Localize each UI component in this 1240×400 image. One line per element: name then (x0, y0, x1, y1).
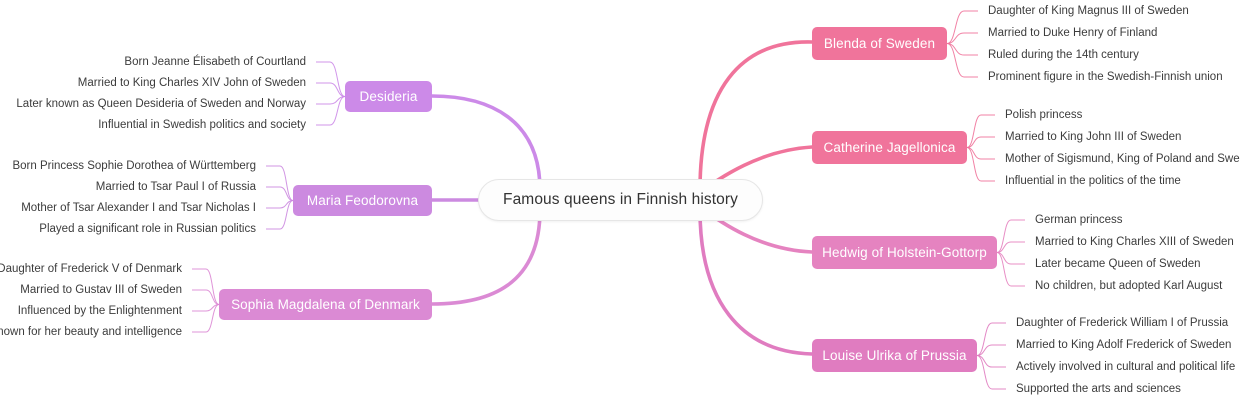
leaf-connector (192, 290, 219, 305)
leaf-connector (266, 187, 293, 201)
branch-node-louise[interactable]: Louise Ulrika of Prussia (812, 339, 977, 372)
branch-node-desideria[interactable]: Desideria (345, 81, 432, 112)
leaf-item[interactable]: Married to King Charles XIII of Sweden (1035, 235, 1234, 249)
leaf-item[interactable]: Ruled during the 14th century (988, 48, 1139, 62)
leaf-item[interactable]: Later known as Queen Desideria of Sweden… (16, 97, 306, 111)
branch-node-label: Sophia Magdalena of Denmark (231, 297, 420, 312)
leaf-item[interactable]: No children, but adopted Karl August (1035, 279, 1222, 293)
leaf-item[interactable]: Influenced by the Enlightenment (18, 304, 182, 318)
branch-connector (700, 210, 812, 354)
leaf-item[interactable]: Daughter of King Magnus III of Sweden (988, 4, 1189, 18)
leaf-connector (266, 201, 293, 230)
leaf-connector (947, 44, 978, 78)
branch-node-label: Hedwig of Holstein-Gottorp (822, 245, 987, 260)
branch-node-label: Blenda of Sweden (824, 36, 935, 51)
leaf-item[interactable]: Married to King Adolf Frederick of Swede… (1016, 338, 1231, 352)
leaf-connector (977, 356, 1006, 368)
branch-node-sophia[interactable]: Sophia Magdalena of Denmark (219, 289, 432, 320)
leaf-connector (947, 33, 978, 44)
leaf-connector (266, 201, 293, 209)
branch-connector (432, 96, 540, 190)
leaf-connector (997, 253, 1025, 287)
branch-node-label: Desideria (360, 89, 418, 104)
branch-node-label: Catherine Jagellonica (824, 140, 956, 155)
leaf-connector (977, 356, 1006, 390)
branch-connector (700, 42, 812, 190)
leaf-connector (947, 44, 978, 56)
root-node-label: Famous queens in Finnish history (503, 191, 738, 209)
leaf-connector (967, 115, 995, 148)
leaf-item[interactable]: German princess (1035, 213, 1123, 227)
leaf-connector (316, 97, 345, 105)
leaf-item[interactable]: Played a significant role in Russian pol… (39, 222, 256, 236)
branch-node-label: Maria Feodorovna (307, 193, 418, 208)
leaf-item[interactable]: Married to Duke Henry of Finland (988, 26, 1157, 40)
leaf-connector (967, 137, 995, 148)
leaf-item[interactable]: Actively involved in cultural and politi… (1016, 360, 1235, 374)
leaf-connector (967, 148, 995, 182)
root-node[interactable]: Famous queens in Finnish history (478, 179, 763, 221)
leaf-item[interactable]: Influential in the politics of the time (1005, 174, 1181, 188)
branch-node-catherine[interactable]: Catherine Jagellonica (812, 131, 967, 164)
leaf-item[interactable]: Married to King Charles XIV John of Swed… (78, 76, 306, 90)
leaf-connector (192, 305, 219, 312)
leaf-item[interactable]: Known for her beauty and intelligence (0, 325, 182, 339)
leaf-item[interactable]: Polish princess (1005, 108, 1082, 122)
leaf-item[interactable]: Prominent figure in the Swedish-Finnish … (988, 70, 1223, 84)
leaf-item[interactable]: Mother of Sigismund, King of Poland and … (1005, 152, 1240, 166)
leaf-connector (977, 323, 1006, 356)
leaf-connector (266, 166, 293, 201)
leaf-item[interactable]: Born Princess Sophie Dorothea of Württem… (12, 159, 256, 173)
leaf-connector (316, 83, 345, 97)
leaf-item[interactable]: Married to Tsar Paul I of Russia (96, 180, 256, 194)
leaf-connector (997, 242, 1025, 253)
leaf-connector (316, 62, 345, 97)
leaf-item[interactable]: Mother of Tsar Alexander I and Tsar Nich… (21, 201, 256, 215)
leaf-item[interactable]: Daughter of Frederick William I of Pruss… (1016, 316, 1228, 330)
leaf-item[interactable]: Married to Gustav III of Sweden (20, 283, 182, 297)
leaf-connector (977, 345, 1006, 356)
leaf-connector (997, 220, 1025, 253)
leaf-connector (997, 253, 1025, 265)
branch-node-maria[interactable]: Maria Feodorovna (293, 185, 432, 216)
branch-node-hedwig[interactable]: Hedwig of Holstein-Gottorp (812, 236, 997, 269)
branch-node-blenda[interactable]: Blenda of Sweden (812, 27, 947, 60)
mind-map-canvas: Famous queens in Finnish history Blenda … (0, 0, 1240, 400)
leaf-connector (316, 97, 345, 126)
branch-node-label: Louise Ulrika of Prussia (822, 348, 966, 363)
leaf-item[interactable]: Influential in Swedish politics and soci… (98, 118, 306, 132)
leaf-connector (967, 148, 995, 160)
leaf-item[interactable]: Born Jeanne Élisabeth of Courtland (124, 55, 306, 69)
leaf-connector (192, 305, 219, 333)
branch-connector (432, 210, 540, 304)
leaf-item[interactable]: Daughter of Frederick V of Denmark (0, 262, 182, 276)
leaf-item[interactable]: Later became Queen of Sweden (1035, 257, 1201, 271)
leaf-connector (192, 269, 219, 305)
leaf-item[interactable]: Supported the arts and sciences (1016, 382, 1181, 396)
leaf-item[interactable]: Married to King John III of Sweden (1005, 130, 1181, 144)
leaf-connector (947, 11, 978, 44)
